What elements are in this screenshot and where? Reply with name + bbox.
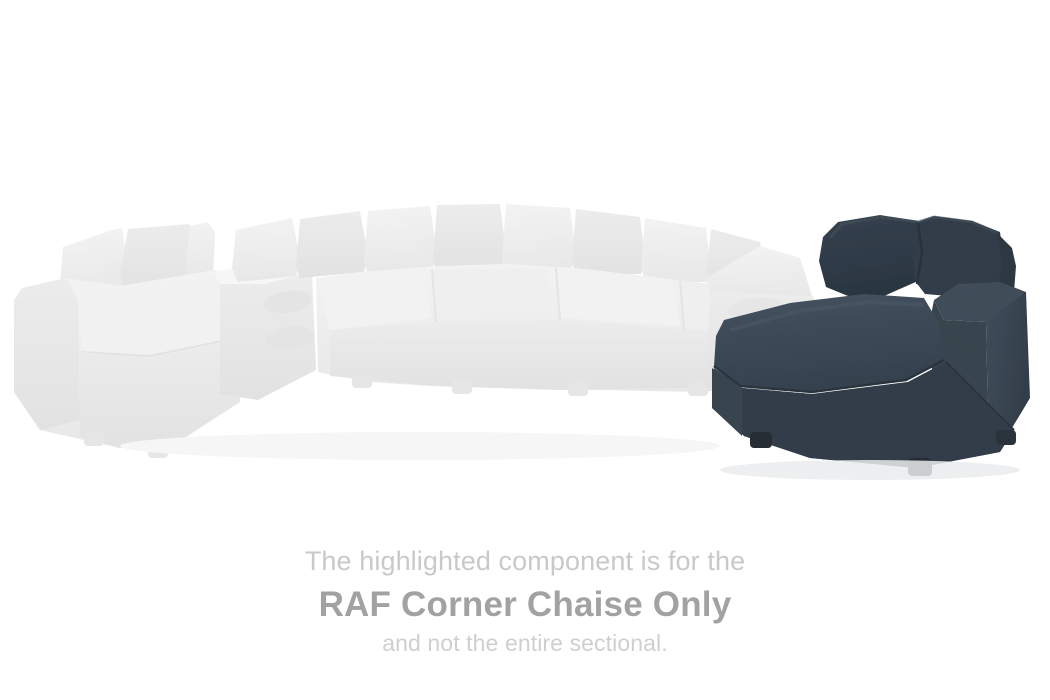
ghost-run-foot-1 <box>352 374 372 388</box>
caption-line-2: RAF Corner Chaise Only <box>0 587 1050 632</box>
chaise-foot-front-left <box>750 432 772 448</box>
chaise-back-cushion-left <box>819 215 922 296</box>
ghost-run-back-7 <box>641 218 711 282</box>
ghost-run-foot-3 <box>568 382 588 396</box>
ghost-run-foot-4 <box>688 382 708 396</box>
ghost-run-back-6 <box>572 209 645 276</box>
caption-line-3: and not the entire sectional. <box>0 632 1050 655</box>
ghost-run-back-4 <box>433 204 506 272</box>
chaise-foot-rear-right <box>996 430 1016 445</box>
ghost-run-back-3 <box>364 206 437 274</box>
chaise-floor-shadow <box>720 460 1020 480</box>
ghost-run-back-2 <box>296 211 368 278</box>
ghost-run-foot-2 <box>452 380 472 394</box>
ghost-left-foot-front <box>84 432 104 446</box>
caption-line-1: The highlighted component is for the <box>0 548 1050 587</box>
product-image: The highlighted component is for the RAF… <box>0 0 1050 700</box>
ghost-run-back-5 <box>502 204 576 272</box>
ghost-floor-shadow <box>120 432 720 460</box>
caption-block: The highlighted component is for the RAF… <box>0 548 1050 655</box>
ghost-run-seat-2 <box>432 268 556 320</box>
